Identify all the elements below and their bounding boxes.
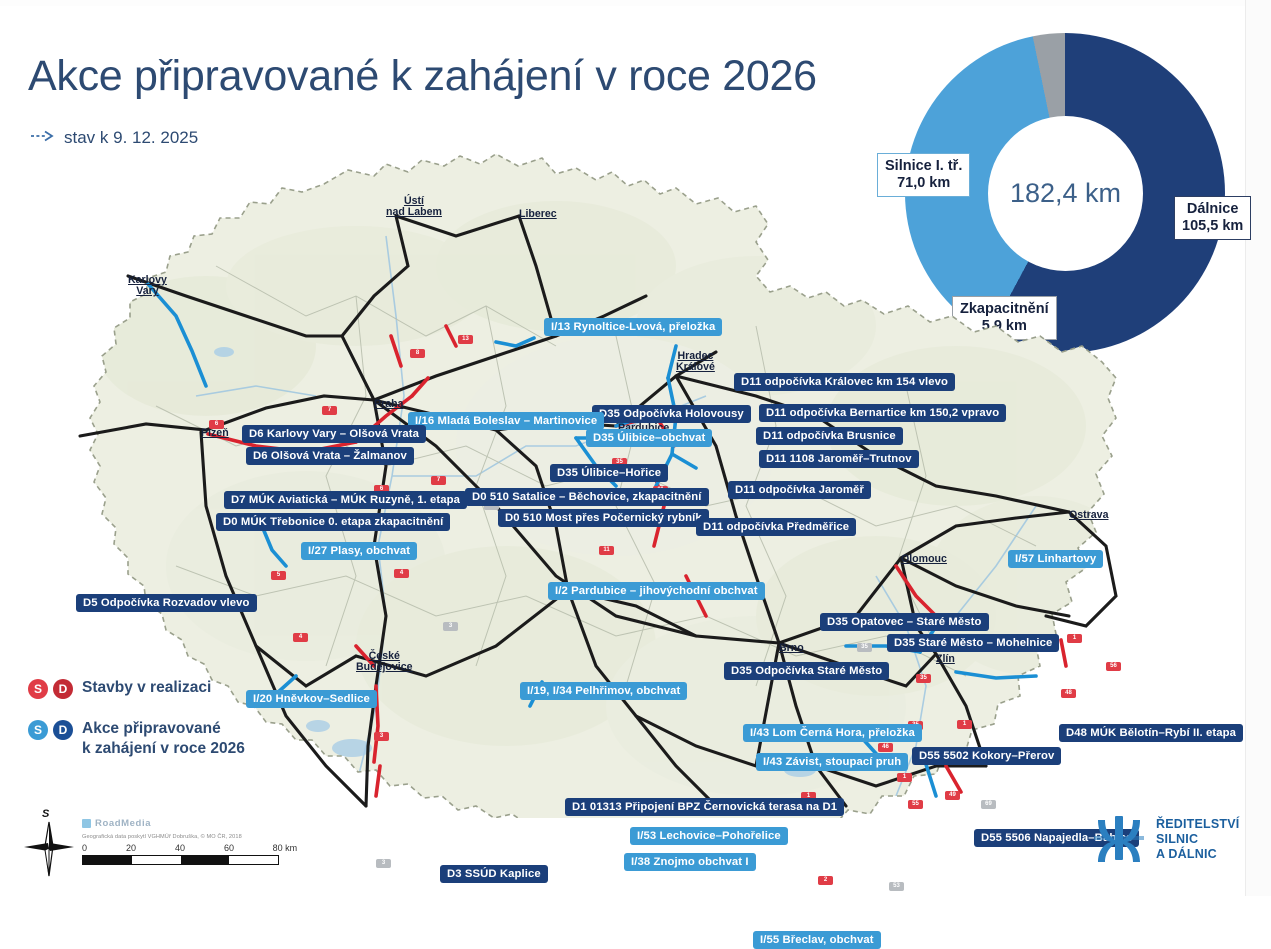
map-callout-label[interactable]: I/19, I/34 Pelhřimov, obchvat [520,682,687,700]
city-label: Liberec [519,209,557,221]
scale-tick-0: 0 [82,843,87,853]
map-callout-label[interactable]: D0 MÚK Třebonice 0. etapa zkapacitnění [216,513,450,531]
map-callout-label[interactable]: D11 odpočívka Brusnice [756,427,903,445]
scale-ticks: 0 20 40 60 80 km [82,843,312,855]
map-callout-label[interactable]: D11 odpočívka Královec km 154 vlevo [734,373,955,391]
legend-label-planned-2026: Akce připravované k zahájení v roce 2026 [82,719,245,759]
city-label: Zlín [936,654,955,666]
city-label-line1: Olomouc [901,553,947,565]
legend-label-in-progress: Stavby v realizaci [82,678,211,698]
map-callout-label[interactable]: I/43 Závist, stoupací pruh [756,753,908,771]
road-shield-icon: 8 [410,349,425,358]
map-callout-label[interactable]: D3 SSÚD Kaplice [440,865,548,883]
map-callout-label[interactable]: D0 510 Satalice – Běchovice, zkapacitněn… [465,488,709,506]
map-callout-label[interactable]: D35 Úlibice–Hořice [550,464,668,482]
donut-label-dalnice-name: Dálnice [1182,201,1243,218]
road-shield-icon: 13 [458,335,473,344]
road-shield-icon: 53 [889,882,904,891]
scale-seg-3 [181,856,230,864]
dalnice-badge-icon: D [53,720,73,740]
scale-seg-1 [83,856,132,864]
city-label: Olomouc [901,554,947,566]
map-callout-label[interactable]: I/57 Linhartovy [1008,550,1103,568]
rsd-logo: ŘEDITELSTVÍ SILNIC A DÁLNIC [1092,812,1239,867]
map-callout-label[interactable]: D35 Úlibice–obchvat [586,429,712,447]
city-label-line1: Ostrava [1069,509,1108,521]
scale-bar [82,855,279,865]
map-callout-label[interactable]: D1 01313 Připojení BPZ Černovická terasa… [565,798,844,816]
map-callout-label[interactable]: D5 Odpočívka Rozvadov vlevo [76,594,257,612]
road-shield-icon: 1 [957,720,972,729]
map-callout-label[interactable]: D6 Olšová Vrata – Žalmanov [246,447,414,465]
silnice-badge-icon: S [28,720,48,740]
legend-icons-planned: S D [28,719,73,740]
map-callout-label[interactable]: I/53 Lechovice–Pohořelice [630,827,788,845]
city-label-line2: Králové [676,361,715,373]
scale-tick-40: 40 [175,843,185,853]
road-shield-icon: 35 [857,643,872,652]
road-shield-icon: 5 [271,571,286,580]
city-label: Ostrava [1069,510,1108,522]
status-row: stav k 9. 12. 2025 [30,128,198,148]
road-shield-icon: 3 [443,622,458,631]
city-label: HradecKrálové [676,351,715,373]
road-shield-icon: 1 [897,773,912,782]
city-label-line1: Praha [374,398,403,410]
map-callout-label[interactable]: D35 Opatovec – Staré Město [820,613,989,631]
road-shield-icon: 3 [376,859,391,868]
road-shield-icon: 4 [293,633,308,642]
map-callout-label[interactable]: I/16 Mladá Boleslav – Martinovice [408,412,604,430]
road-shield-icon: 69 [981,800,996,809]
map-callout-label[interactable]: D11 odpočívka Předměřice [696,518,856,536]
donut-label-dalnice: Dálnice 105,5 km [1174,196,1251,240]
roadmedia-mark-icon [82,819,91,828]
compass-letter: S [42,808,49,820]
city-label-line1: Brno [779,642,804,654]
scale-tick-80: 80 km [273,843,298,853]
city-label: Praha [374,399,403,411]
rsd-line2: SILNIC [1156,832,1198,846]
map-callout-label[interactable]: D35 Odpočívka Staré Město [724,662,889,680]
map-callout-label[interactable]: I/43 Lom Černá Hora, přeložka [743,724,922,742]
map-callout-label[interactable]: D7 MÚK Aviatická – MÚK Ruzyně, 1. etapa [224,491,467,509]
dalnice-badge-icon: D [53,679,73,699]
donut-label-dalnice-value: 105,5 km [1182,218,1243,235]
map-callout-label[interactable]: D11 odpočívka Bernartice km 150,2 vpravo [759,404,1006,422]
slide-root: Akce připravované k zahájení v roce 2026… [0,0,1271,896]
slide-top-edge [0,0,1271,6]
map-callout-label[interactable]: I/13 Rynoltice-Lvová, přeložka [544,318,722,336]
city-label-line2: Budějovice [356,661,413,673]
map-callout-label[interactable]: D35 Staré Město – Mohelnice [887,634,1059,652]
map-callout-label[interactable]: D55 5502 Kokory–Přerov [912,747,1061,765]
road-shield-icon: 2 [818,876,833,885]
road-shield-icon: 35 [916,674,931,683]
scale-seg-2 [132,856,181,864]
compass-rose-icon: S [22,808,76,878]
map-callout-label[interactable]: I/55 Břeclav, obchvat [753,931,881,949]
status-date: stav k 9. 12. 2025 [64,128,198,148]
road-shield-icon: 4 [394,569,409,578]
road-shield-icon: 55 [908,800,923,809]
map-attribution: Geografická data poskytl VGHMÚř Dobruška… [82,834,312,840]
legend-row-planned-2026: S D Akce připravované k zahájení v roce … [28,719,328,759]
road-shield-icon: 56 [1106,662,1121,671]
road-shield-icon: 7 [431,476,446,485]
map-callout-label[interactable]: I/27 Plasy, obchvat [301,542,417,560]
rsd-mark-icon [1092,812,1146,867]
scale-seg-4 [229,856,278,864]
map-legend: S D Stavby v realizaci S D Akce připravo… [28,678,328,779]
road-shield-icon: 49 [945,791,960,800]
legend-icons-in-progress: S D [28,678,73,699]
city-label: Brno [779,643,804,655]
city-label: Ústínad Labem [386,196,442,218]
city-label: ČeskéBudějovice [356,651,413,673]
city-label-line2: nad Labem [386,206,442,218]
map-callout-label[interactable]: I/38 Znojmo obchvat I [624,853,756,871]
road-shield-icon: 46 [878,743,893,752]
legend-label-planned-line2: k zahájení v roce 2026 [82,740,245,757]
city-label: Plzeň [201,428,229,440]
rsd-line1: ŘEDITELSTVÍ [1156,817,1239,831]
road-shield-icon: 6 [209,420,224,429]
rsd-line3: A DÁLNIC [1156,847,1217,861]
map-callout-label[interactable]: I/2 Pardubice – jihovýchodní obchvat [548,582,765,600]
city-label-line1: Liberec [519,208,557,220]
slide-right-edge [1245,0,1271,896]
roadmedia-logo: RoadMedia [82,818,312,829]
scale-tick-20: 20 [126,843,136,853]
silnice-badge-icon: S [28,679,48,699]
road-shield-icon: 11 [599,546,614,555]
rsd-wordmark: ŘEDITELSTVÍ SILNIC A DÁLNIC [1156,817,1239,863]
dashed-arrow-icon [30,129,56,147]
city-label-line1: Zlín [936,653,955,665]
city-label-line2: Vary [136,285,158,297]
road-shield-icon: 1 [1067,634,1082,643]
map-callout-label[interactable]: D0 510 Most přes Počernický rybník [498,509,709,527]
scale-tick-60: 60 [224,843,234,853]
city-label: KarlovyVary [128,275,167,297]
road-shield-icon: 3 [374,732,389,741]
road-shield-icon: 48 [1061,689,1076,698]
legend-label-planned-line1: Akce připravované [82,720,221,737]
map-callout-label[interactable]: D11 1108 Jaroměř–Trutnov [759,450,919,468]
map-callout-label[interactable]: D11 odpočívka Jaroměř [728,481,871,499]
legend-row-in-progress: S D Stavby v realizaci [28,678,328,699]
map-callout-label[interactable]: D35 Odpočívka Holovousy [592,405,751,423]
map-callout-label[interactable]: D48 MÚK Bělotín–Rybí II. etapa [1059,724,1243,742]
road-shield-icon: 7 [322,406,337,415]
map-scale-block: RoadMedia Geografická data poskytl VGHMÚ… [82,818,312,865]
roadmedia-label: RoadMedia [95,818,151,829]
page-title: Akce připravované k zahájení v roce 2026 [28,52,817,101]
map-callout-label[interactable]: D6 Karlovy Vary – Olšová Vrata [242,425,426,443]
